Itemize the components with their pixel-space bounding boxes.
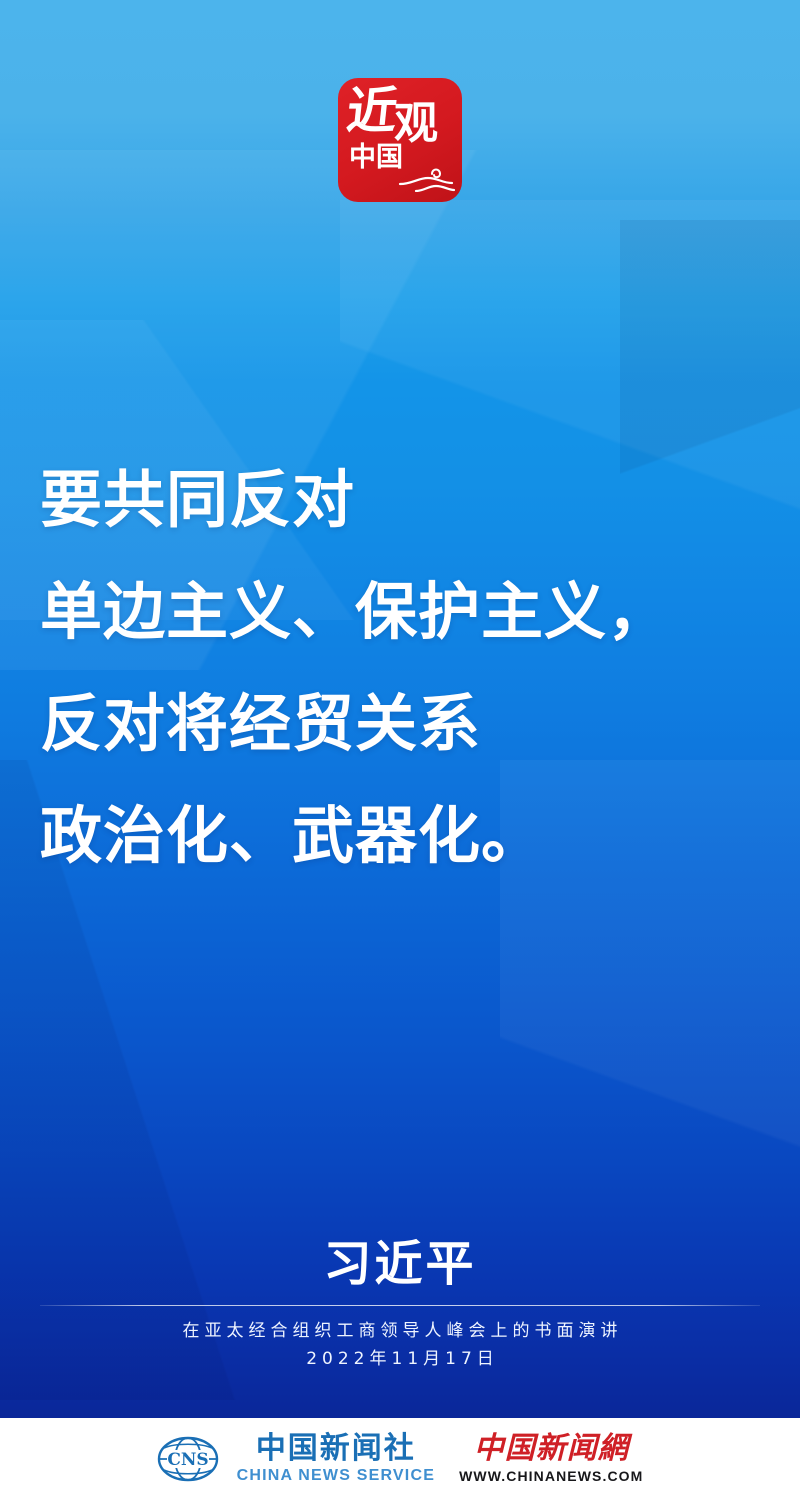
app-logo-icon: 近 观 中国 [338,78,462,202]
cns-globe-icon: CNS [157,1436,219,1482]
logo-jin-glyph: 近 [344,86,397,136]
agency-name-cn: 中国新闻社 [256,1432,416,1466]
footer-logos: CNS 中国新闻社 CHINA NEWS SERVICE 中国新闻網 WWW.C… [157,1432,644,1486]
attribution-divider [40,1305,760,1306]
svg-text:CNS: CNS [167,1450,208,1470]
logo-guan-glyph: 观 [394,102,438,146]
website-name-cn: 中国新闻網 [474,1432,629,1466]
quote-line: 单边主义、保护主义， [40,556,760,668]
footer-bar: CNS 中国新闻社 CHINA NEWS SERVICE 中国新闻網 WWW.C… [0,1418,800,1511]
quote-line: 反对将经贸关系 [40,668,760,780]
logo-subtitle: 中国 [349,144,403,171]
agency-logo: 中国新闻社 CHINA NEWS SERVICE [237,1432,436,1486]
quote-block: 要共同反对 单边主义、保护主义， 反对将经贸关系 政治化、武器化。 [40,444,760,892]
poster-canvas: 近 观 中国 要共同反对 单边主义、保护主义， 反对将经贸关系 政治化、武器化。… [0,0,800,1511]
speech-occasion: 在亚太经合组织工商领导人峰会上的书面演讲 [0,1317,800,1345]
website-logo[interactable]: 中国新闻網 WWW.CHINANEWS.COM [459,1432,643,1486]
speech-date: 2022年11月17日 [0,1345,800,1373]
quote-line: 要共同反对 [40,444,760,556]
cloud-motif-icon [398,154,456,192]
agency-name-en: CHINA NEWS SERVICE [237,1466,436,1486]
brand-logo[interactable]: 近 观 中国 [338,78,462,202]
speaker-name: 习近平 [0,1234,800,1294]
website-url: WWW.CHINANEWS.COM [459,1466,643,1486]
quote-line: 政治化、武器化。 [40,780,760,892]
